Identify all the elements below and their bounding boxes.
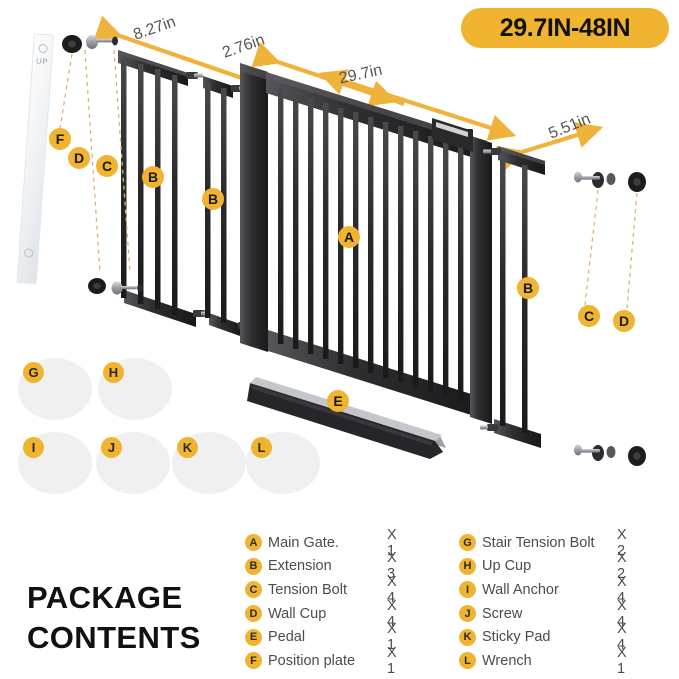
part-quantity-label: X 1 — [617, 645, 627, 677]
part-letter-badge: C — [245, 581, 262, 598]
callout-badge-b1: B — [142, 166, 164, 188]
part-letter-badge: E — [245, 629, 262, 646]
plate-hole-bottom — [24, 248, 34, 258]
callout-badge-d: D — [68, 147, 90, 169]
part-letter-badge: D — [245, 605, 262, 622]
part-letter-badge: G — [459, 534, 476, 551]
part-letter-badge: I — [459, 581, 476, 598]
package-contents-title: PACKAGE CONTENTS — [27, 578, 201, 657]
accessory-badge-j: J — [101, 437, 122, 458]
accessory-badge-i: I — [23, 437, 44, 458]
part-name-label: Pedal — [268, 629, 305, 645]
parts-list-item: EPedalX 1 — [245, 625, 355, 649]
callout-badge-e: E — [327, 390, 349, 412]
part-letter-badge: A — [245, 534, 262, 551]
parts-list-item: LWrenchX 1 — [459, 649, 595, 673]
product-exploded-diagram: Cumbor — [0, 0, 679, 679]
part-name-label: Extension — [268, 558, 332, 574]
plate-hole-top — [38, 44, 48, 54]
part-letter-badge: F — [245, 652, 262, 669]
part-name-label: Tension Bolt — [268, 582, 347, 598]
part-letter-badge: B — [245, 558, 262, 575]
part-letter-badge: H — [459, 558, 476, 575]
part-name-label: Stair Tension Bolt — [482, 535, 595, 551]
part-letter-badge: J — [459, 605, 476, 622]
callout-badge-d2: D — [613, 310, 635, 332]
part-name-label: Position plate — [268, 653, 355, 669]
parts-list-item: JScrewX 4 — [459, 602, 595, 626]
parts-list-item: FPosition plateX 1 — [245, 649, 355, 673]
leader-d-right — [627, 193, 637, 308]
size-range-badge: 29.7IN-48IN — [461, 8, 669, 48]
part-name-label: Sticky Pad — [482, 629, 551, 645]
part-name-label: Wall Anchor — [482, 582, 559, 598]
parts-list-item: GStair Tension BoltX 2 — [459, 531, 595, 555]
parts-list-item: DWall CupX 4 — [245, 602, 355, 626]
accessory-badge-k: K — [177, 437, 198, 458]
accessory-badge-l: L — [251, 437, 272, 458]
package-title-line2: CONTENTS — [27, 618, 201, 658]
part-name-label: Screw — [482, 606, 522, 622]
part-name-label: Wall Cup — [268, 606, 326, 622]
callout-badge-b4: B — [517, 277, 539, 299]
part-name-label: Wrench — [482, 653, 532, 669]
package-title-line1: PACKAGE — [27, 578, 201, 618]
callout-badge-f: F — [49, 128, 71, 150]
callout-badge-a: A — [338, 226, 360, 248]
parts-list-item: BExtensionX 3 — [245, 555, 355, 579]
leader-c-right — [585, 190, 598, 305]
part-quantity-label: X 1 — [387, 645, 397, 677]
parts-list-item: HUp CupX 2 — [459, 555, 595, 579]
part-name-label: Up Cup — [482, 558, 531, 574]
extension-panel-left — [118, 50, 210, 327]
leader-f — [60, 54, 72, 128]
parts-list-right-column: GStair Tension BoltX 2HUp CupX 2IWall An… — [459, 531, 595, 673]
accessory-badge-h: H — [103, 362, 124, 383]
plate-up-label: UP — [36, 57, 49, 67]
part-letter-badge: L — [459, 652, 476, 669]
parts-list-left-column: AMain Gate.X 1BExtensionX 3CTension Bolt… — [245, 531, 355, 673]
part-name-label: Main Gate. — [268, 535, 339, 551]
callout-badge-c2: C — [578, 305, 600, 327]
parts-list-item: AMain Gate.X 1 — [245, 531, 355, 555]
accessory-badge-g: G — [23, 362, 44, 383]
parts-list-item: IWall AnchorX 4 — [459, 578, 595, 602]
parts-list-item: CTension BoltX 4 — [245, 578, 355, 602]
callout-badge-c: C — [96, 155, 118, 177]
part-letter-badge: K — [459, 629, 476, 646]
parts-list-item: KSticky PadX 4 — [459, 625, 595, 649]
callout-badge-b2: B — [202, 188, 224, 210]
